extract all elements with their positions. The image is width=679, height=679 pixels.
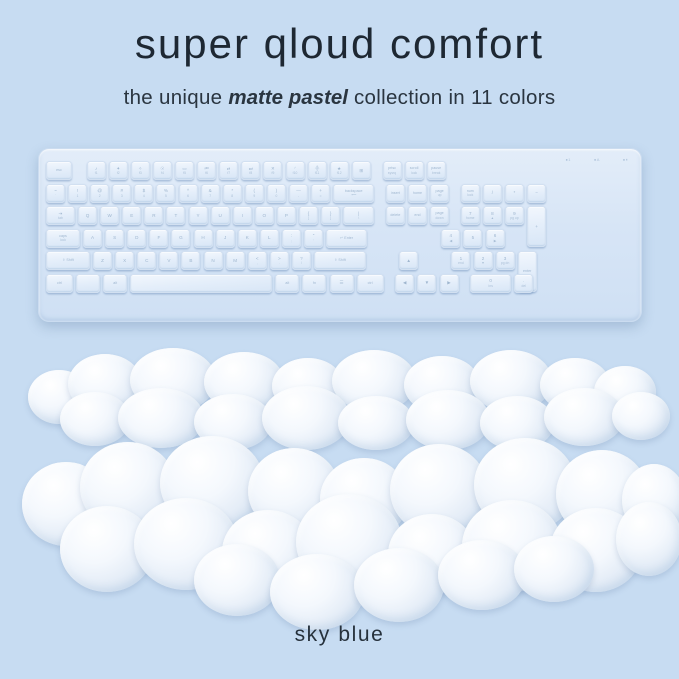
key-label: S [113, 235, 116, 241]
cloud-lobe [270, 554, 364, 630]
key-sublabel: ▲ [491, 216, 494, 220]
key-delete[interactable]: delete [386, 206, 405, 225]
key-sublabel: , [257, 261, 258, 265]
key-blank[interactable]: ⇥tab [46, 206, 75, 225]
key-sublabel: f6 [205, 171, 208, 175]
key-blank[interactable]: ⏭f8 [241, 161, 260, 180]
key-sublabel: f11 [315, 171, 320, 175]
key-sublabel: . [279, 261, 280, 265]
key-label: ctrl [57, 281, 62, 285]
key-label: ☰ [339, 280, 343, 286]
key-shift[interactable]: ⇧ Shift [46, 251, 90, 270]
key-blank[interactable]: )0 [267, 184, 286, 203]
key-label: J [224, 235, 226, 241]
key-sublabel: down [436, 216, 444, 220]
key-k[interactable]: K [238, 229, 257, 248]
key-label: delete [390, 213, 400, 217]
key-blank[interactable]: ▶ [440, 274, 459, 293]
key-o[interactable]: O [255, 206, 274, 225]
key-n[interactable]: N [204, 251, 223, 270]
subtitle-emphasis: matte pastel [228, 86, 348, 109]
key-sublabel: lock [467, 193, 473, 197]
key-sublabel: tab [58, 216, 63, 220]
keyboard-row-home-row: capslockASDFGHJKL:;"'↵ Enter4◀56▶ [46, 229, 505, 248]
key-blank[interactable]: <, [248, 251, 267, 270]
key-label: K [246, 235, 249, 241]
key-u[interactable]: U [211, 206, 230, 225]
caps-lock-led: ●A [594, 157, 600, 162]
key-r[interactable]: R [144, 206, 163, 225]
key-insert[interactable]: insert [386, 184, 405, 203]
key-sublabel: 4 [143, 194, 145, 198]
key-sublabel: f12 [337, 171, 342, 175]
key-sublabel: f5 [183, 171, 186, 175]
key-blank[interactable]: / [483, 184, 502, 203]
key-sublabel: 5 [165, 194, 167, 198]
key-b[interactable]: B [181, 251, 200, 270]
key-blank[interactable]: "' [304, 229, 323, 248]
key-m[interactable]: M [226, 251, 245, 270]
key-label: W [107, 213, 111, 219]
key-t[interactable]: T [166, 206, 185, 225]
key-scroll[interactable]: scrolllock [405, 161, 424, 180]
key-blank[interactable]: * [505, 184, 524, 203]
key-home[interactable]: home [408, 184, 427, 203]
key-label: X [123, 258, 126, 264]
key-blank[interactable]: .del [514, 274, 533, 293]
key-sublabel: 3 [121, 194, 123, 198]
key-label: Q [86, 213, 90, 219]
key-label: P [285, 213, 288, 219]
key-label: B [189, 258, 192, 264]
key-page[interactable]: pagedown [430, 206, 449, 225]
key-shift[interactable]: ⇧ Shift [314, 251, 366, 270]
key-x[interactable]: X [115, 251, 134, 270]
key-label: ⊞ [359, 168, 363, 174]
key-blank[interactable]: ☉f4 [153, 161, 172, 180]
key-sublabel: ' [313, 239, 314, 243]
key-label: I [242, 213, 243, 219]
key-sublabel: ` [55, 194, 56, 198]
key-blank[interactable]: {[ [299, 206, 318, 225]
key-a[interactable]: A [83, 229, 102, 248]
key-label: O [263, 213, 267, 219]
key-blank[interactable]: —- [289, 184, 308, 203]
key-sublabel: - [298, 194, 299, 198]
key-label: ◀ [403, 280, 407, 286]
key-blank[interactable]: %5 [156, 184, 175, 203]
key-label: M [233, 258, 237, 264]
key-sublabel: ins [489, 284, 493, 288]
key-label: ▲ [406, 258, 411, 264]
key-blank[interactable] [130, 274, 272, 293]
keyboard-row-function-row: esc♪f1✦f2✧f3☉f4▭f5⏮f6⏯f7⏭f8✕f9⸍f10⸎f11★f… [46, 161, 446, 180]
key-label: * [514, 190, 516, 196]
cloud-lobe [514, 536, 594, 602]
keyboard-row-qwerty-row: ⇥tabQWERTYUIOP{[}]|\deleteendpagedown7ho… [46, 206, 546, 225]
key-alt[interactable]: alt [103, 274, 127, 293]
key-sublabel: f1 [95, 171, 98, 175]
key-sublabel: 2 [99, 194, 101, 198]
num-lock-led: ●1 [565, 157, 570, 162]
key-sublabel: ; [291, 239, 292, 243]
key-num[interactable]: numlock [461, 184, 480, 203]
key-label: A [91, 235, 94, 241]
key-sublabel: [ [308, 216, 309, 220]
key-sublabel: f3 [139, 171, 142, 175]
key-alt[interactable]: alt [275, 274, 299, 293]
key-blank[interactable]: !1 [68, 184, 87, 203]
key-6[interactable]: 6▶ [486, 229, 505, 248]
key-sublabel: del [522, 284, 527, 288]
key-blank[interactable]: ✧f3 [131, 161, 150, 180]
key-label: T [175, 213, 178, 219]
key-blank[interactable]: #3 [112, 184, 131, 203]
key-sublabel: ] [330, 216, 331, 220]
key-y[interactable]: Y [189, 206, 208, 225]
key-blank[interactable]: ✕f9 [263, 161, 282, 180]
key-4[interactable]: 4◀ [441, 229, 460, 248]
keyboard-row-number-row: ~`!1@2#3$4%5^6&7*8(9)0—-+=backspace⟵inse… [46, 184, 546, 203]
cloud-lobe [354, 548, 444, 622]
key-sublabel: f9 [272, 171, 275, 175]
key-sublabel: / [301, 261, 302, 265]
color-name-caption: sky blue [0, 623, 679, 647]
key-blank[interactable]: $4 [134, 184, 153, 203]
key-backspace[interactable]: backspace⟵ [333, 184, 374, 203]
key-sublabel: ▼ [481, 261, 484, 265]
key-i[interactable]: I [233, 206, 252, 225]
key-ctrl[interactable]: ctrl [46, 274, 73, 293]
key-blank[interactable] [76, 274, 100, 293]
key-blank[interactable]: |\ [343, 206, 374, 225]
key-sublabel: lock [411, 171, 417, 175]
key-sublabel: ◀ [450, 239, 453, 243]
key-sublabel: 1 [77, 194, 79, 198]
key-s[interactable]: S [105, 229, 124, 248]
key-label: / [492, 190, 493, 196]
key-label: ▶ [447, 280, 451, 286]
key-pause[interactable]: pausebreak [427, 161, 446, 180]
key-label: D [135, 235, 138, 241]
key-label: C [145, 258, 148, 264]
key-blank[interactable]: ☰ [330, 274, 354, 293]
key-sublabel: pg dn [501, 261, 510, 265]
key-z[interactable]: Z [93, 251, 112, 270]
key-blank[interactable]: ⏮f6 [197, 161, 216, 180]
subtitle-after: collection in 11 colors [348, 86, 555, 109]
key-sublabel: end [458, 261, 464, 265]
key-blank[interactable]: ▭f5 [175, 161, 194, 180]
key-ctrl[interactable]: ctrl [357, 274, 384, 293]
key-sublabel: ▶ [494, 239, 497, 243]
key-label: − [535, 190, 538, 196]
key-blank[interactable]: ▼ [417, 274, 436, 293]
key-esc[interactable]: esc [46, 161, 72, 180]
key-blank[interactable]: ✦f2 [109, 161, 128, 180]
key-label: insert [391, 191, 400, 195]
key-sublabel: \ [358, 216, 359, 220]
subtitle-before: the unique [124, 86, 229, 109]
key-e[interactable]: E [122, 206, 141, 225]
key-blank[interactable]: :; [282, 229, 301, 248]
page-title: super qloud comfort [0, 20, 679, 68]
key-label: V [167, 258, 170, 264]
key-label: Y [197, 213, 200, 219]
key-end[interactable]: end [408, 206, 427, 225]
key-label: F [157, 235, 160, 241]
key-label: fn [313, 281, 316, 285]
key-blank[interactable]: += [311, 184, 330, 203]
key-sublabel: pg up [510, 216, 519, 220]
key-blank[interactable]: &7 [201, 184, 220, 203]
key-blank[interactable]: >. [270, 251, 289, 270]
key-label: alt [113, 281, 117, 285]
key-sublabel: f8 [249, 171, 252, 175]
key-sublabel: lock [60, 238, 66, 242]
key-label: E [130, 213, 133, 219]
key-blank[interactable]: + [527, 206, 546, 247]
key-sublabel: 0 [275, 194, 277, 198]
scroll-lock-led: ●⏸ [623, 157, 628, 162]
keyboard[interactable]: ●1 ●A ●⏸ esc♪f1✦f2✧f3☉f4▭f5⏮f6⏯f7⏭f8✕f9⸍… [38, 148, 642, 322]
key-7[interactable]: 7home [461, 206, 480, 225]
key-label: home [413, 191, 422, 195]
keyboard-keys-area: ●1 ●A ●⏸ esc♪f1✦f2✧f3☉f4▭f5⏮f6⏯f7⏭f8✕f9⸍… [46, 155, 634, 314]
keyboard-row-bottom-row: ctrlaltaltfn☰ctrl◀▼▶0ins.del [46, 274, 533, 293]
key-1[interactable]: 1end [451, 251, 470, 270]
key-sublabel: f4 [161, 171, 164, 175]
key-label: ⇧ Shift [334, 258, 346, 262]
key-blank[interactable]: @2 [90, 184, 109, 203]
key-label: 5 [472, 235, 475, 241]
key-w[interactable]: W [100, 206, 119, 225]
key-caps[interactable]: capslock [46, 229, 80, 248]
key-sublabel: up [438, 193, 442, 197]
key-label: U [218, 213, 221, 219]
key-2[interactable]: 2▼ [474, 251, 493, 270]
key-label: H [201, 235, 204, 241]
key-p[interactable]: P [277, 206, 296, 225]
key-blank[interactable]: ⊞ [352, 161, 371, 180]
status-led-strip: ●1 ●A ●⏸ [565, 157, 628, 162]
key-sublabel: 9 [253, 194, 255, 198]
key-label: ⇧ Shift [62, 258, 74, 262]
key-blank[interactable]: (9 [245, 184, 264, 203]
key-fn[interactable]: fn [302, 274, 326, 293]
key-v[interactable]: V [159, 251, 178, 270]
key-d[interactable]: D [127, 229, 146, 248]
cloud-mouse-pad[interactable] [14, 436, 674, 632]
key-blank[interactable]: ★f12 [330, 161, 349, 180]
key-sublabel: 6 [187, 194, 189, 198]
key-label: L [268, 235, 271, 241]
page-subtitle: the unique matte pastel collection in 11… [0, 86, 679, 110]
key-blank[interactable]: }] [321, 206, 340, 225]
key-blank[interactable]: ?/ [292, 251, 311, 270]
key-l[interactable]: L [260, 229, 279, 248]
key-label: esc [56, 168, 62, 172]
key-blank[interactable]: ^6 [179, 184, 198, 203]
key-f[interactable]: F [149, 229, 168, 248]
key-blank[interactable]: ⏯f7 [219, 161, 238, 180]
key-blank[interactable]: ▲ [399, 251, 418, 270]
key-label: ctrl [368, 281, 373, 285]
key-sublabel: f7 [227, 171, 230, 175]
key-page[interactable]: pageup [430, 184, 449, 203]
key-3[interactable]: 3pg dn [496, 251, 515, 270]
key-sublabel: sysrq [388, 171, 396, 175]
key-blank[interactable]: *8 [223, 184, 242, 203]
key-g[interactable]: G [171, 229, 190, 248]
key-blank[interactable]: ~` [46, 184, 65, 203]
key-label: + [535, 224, 538, 230]
key-sublabel: f10 [293, 171, 298, 175]
key-j[interactable]: J [216, 229, 235, 248]
key-blank[interactable]: − [527, 184, 546, 203]
key-label: Z [101, 258, 104, 264]
key-8[interactable]: 8▲ [483, 206, 502, 225]
key-label: ↵ Enter [340, 236, 353, 240]
key-q[interactable]: Q [78, 206, 97, 225]
key-label: G [179, 235, 183, 241]
cloud-lobe [438, 540, 526, 610]
key-5[interactable]: 5 [463, 229, 482, 248]
key-blank[interactable]: ◀ [395, 274, 414, 293]
key-sublabel: ⟵ [351, 193, 356, 197]
key-label: alt [285, 281, 289, 285]
key-9[interactable]: 9pg up [505, 206, 524, 225]
key-enter[interactable]: ↵ Enter [326, 229, 367, 248]
key-sublabel: 8 [231, 194, 233, 198]
key-sublabel: home [466, 216, 474, 220]
key-label: end [414, 213, 420, 217]
keyboard-row-shift-row: ⇧ ShiftZXCVBNM<,>.?/⇧ Shift▲1end2▼3pg dn… [46, 251, 537, 270]
key-blank[interactable]: ⸍f10 [286, 161, 305, 180]
key-0[interactable]: 0ins [470, 274, 511, 293]
key-label: R [152, 213, 155, 219]
key-prtsc[interactable]: prtscsysrq [383, 161, 402, 180]
key-sublabel: f2 [117, 171, 120, 175]
key-h[interactable]: H [194, 229, 213, 248]
key-c[interactable]: C [137, 251, 156, 270]
key-sublabel: break [432, 171, 441, 175]
cloud-lobe [616, 502, 679, 576]
key-label: ▼ [425, 280, 430, 286]
cloud-lobe [612, 392, 670, 440]
cloud-lobe [194, 544, 280, 616]
key-sublabel: 7 [209, 194, 211, 198]
key-sublabel: = [320, 194, 322, 198]
key-label: N [211, 258, 214, 264]
key-blank[interactable]: ⸎f11 [308, 161, 327, 180]
key-blank[interactable]: ♪f1 [87, 161, 106, 180]
